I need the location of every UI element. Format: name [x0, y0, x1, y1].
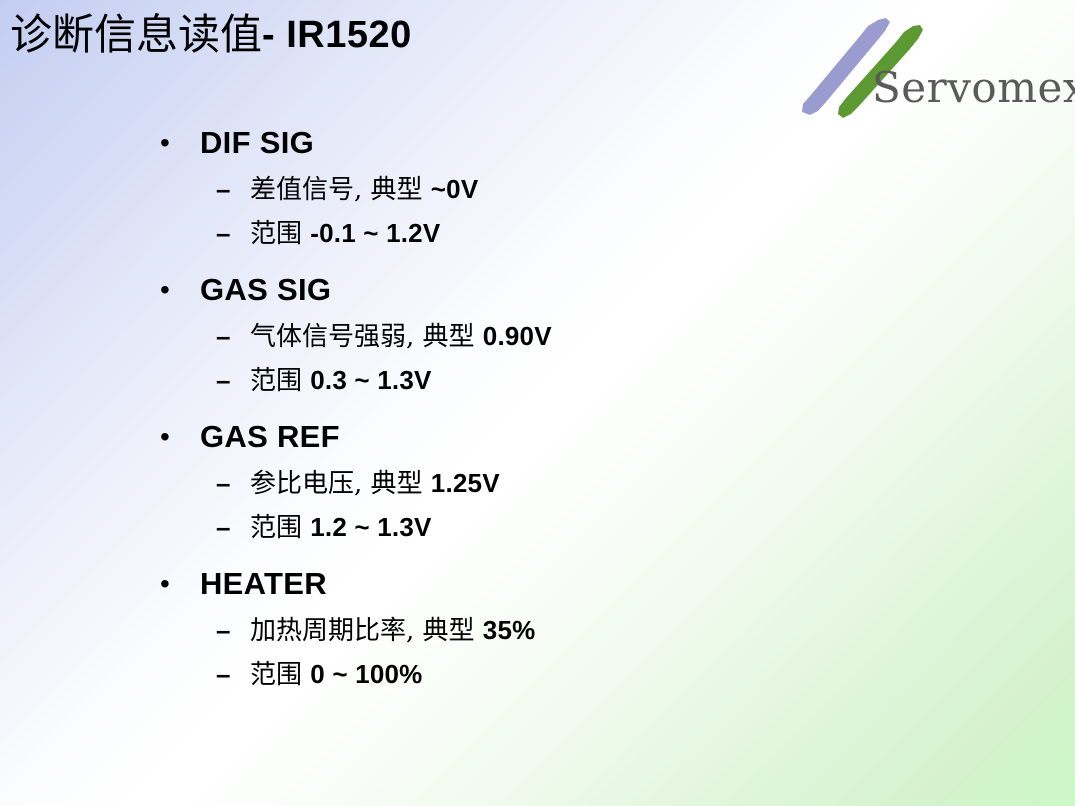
logo-wordmark: Servomex [872, 67, 1075, 109]
subitem-value: 1.25V [431, 468, 500, 498]
bullet-dash-icon: – [216, 317, 230, 355]
slide-canvas: 诊断信息读值 - IR1520 Servomex • DIF SIG – 差值信… [0, 0, 1075, 806]
bullet-dot-icon: • [160, 420, 180, 454]
bullet-subitem: – 加热周期比率, 典型 35% [0, 611, 1075, 655]
bullet-subitem: – 范围 0 ~ 100% [0, 655, 1075, 699]
bullet-subitem-line: 气体信号强弱, 典型 0.90V [250, 322, 552, 352]
page-title-model: - IR1520 [262, 16, 412, 54]
bullet-dash-icon: – [216, 508, 230, 546]
page-title-cjk: 诊断信息读值 [10, 14, 262, 56]
subitem-label: 范围 [250, 660, 310, 690]
bullet-dash-icon: – [216, 464, 230, 502]
bullet-subitem: – 差值信号, 典型 ~0V [0, 170, 1075, 214]
subitem-label: 范围 [250, 219, 310, 249]
subitem-label: 参比电压, 典型 [250, 469, 431, 499]
subitem-label: 范围 [250, 513, 310, 543]
bullet-heading-label: GAS REF [200, 420, 340, 454]
bullet-subitem-line: 参比电压, 典型 1.25V [250, 469, 500, 499]
bullet-subitem-line: 范围 1.2 ~ 1.3V [250, 513, 432, 543]
bullet-content: • DIF SIG – 差值信号, 典型 ~0V – 范围 -0.1 ~ 1.2… [0, 126, 1075, 714]
subitem-value: -0.1 ~ 1.2V [310, 218, 440, 248]
bullet-heading: • GAS REF [0, 420, 1075, 464]
bullet-heading-label: HEATER [200, 567, 327, 601]
subitem-value: 0.3 ~ 1.3V [310, 365, 431, 395]
bullet-dot-icon: • [160, 567, 180, 601]
bullet-subitem-line: 加热周期比率, 典型 35% [250, 616, 535, 646]
subitem-value: 35% [483, 615, 536, 645]
bullet-dash-icon: – [216, 611, 230, 649]
bullet-subitem: – 参比电压, 典型 1.25V [0, 464, 1075, 508]
page-title: 诊断信息读值 - IR1520 [10, 4, 770, 66]
bullet-subitem-line: 范围 -0.1 ~ 1.2V [250, 219, 440, 249]
bullet-group: • HEATER – 加热周期比率, 典型 35% – 范围 0 ~ 100% [0, 567, 1075, 714]
bullet-heading: • HEATER [0, 567, 1075, 611]
bullet-group: • DIF SIG – 差值信号, 典型 ~0V – 范围 -0.1 ~ 1.2… [0, 126, 1075, 273]
bullet-subitem: – 范围 1.2 ~ 1.3V [0, 508, 1075, 552]
bullet-heading: • DIF SIG [0, 126, 1075, 170]
subitem-label: 加热周期比率, 典型 [250, 616, 483, 646]
bullet-subitem: – 气体信号强弱, 典型 0.90V [0, 317, 1075, 361]
bullet-subitem-line: 范围 0 ~ 100% [250, 660, 422, 690]
subitem-value: 1.2 ~ 1.3V [310, 512, 431, 542]
bullet-heading: • GAS SIG [0, 273, 1075, 317]
subitem-value: 0 ~ 100% [310, 659, 422, 689]
subitem-label: 差值信号, 典型 [250, 175, 431, 205]
bullet-dash-icon: – [216, 170, 230, 208]
bullet-dot-icon: • [160, 126, 180, 160]
bullet-group: • GAS REF – 参比电压, 典型 1.25V – 范围 1.2 ~ 1.… [0, 420, 1075, 567]
subitem-value: 0.90V [483, 321, 552, 351]
bullet-heading-label: GAS SIG [200, 273, 331, 307]
bullet-dash-icon: – [216, 214, 230, 252]
bullet-group: • GAS SIG – 气体信号强弱, 典型 0.90V – 范围 0.3 ~ … [0, 273, 1075, 420]
bullet-heading-label: DIF SIG [200, 126, 314, 160]
bullet-subitem: – 范围 0.3 ~ 1.3V [0, 361, 1075, 405]
bullet-subitem-line: 范围 0.3 ~ 1.3V [250, 366, 432, 396]
bullet-dot-icon: • [160, 273, 180, 307]
bullet-dash-icon: – [216, 655, 230, 693]
servomex-logo: Servomex [790, 12, 1068, 124]
bullet-dash-icon: – [216, 361, 230, 399]
subitem-label: 气体信号强弱, 典型 [250, 322, 483, 352]
subitem-label: 范围 [250, 366, 310, 396]
bullet-subitem-line: 差值信号, 典型 ~0V [250, 175, 478, 205]
subitem-value: ~0V [431, 174, 479, 204]
bullet-subitem: – 范围 -0.1 ~ 1.2V [0, 214, 1075, 258]
